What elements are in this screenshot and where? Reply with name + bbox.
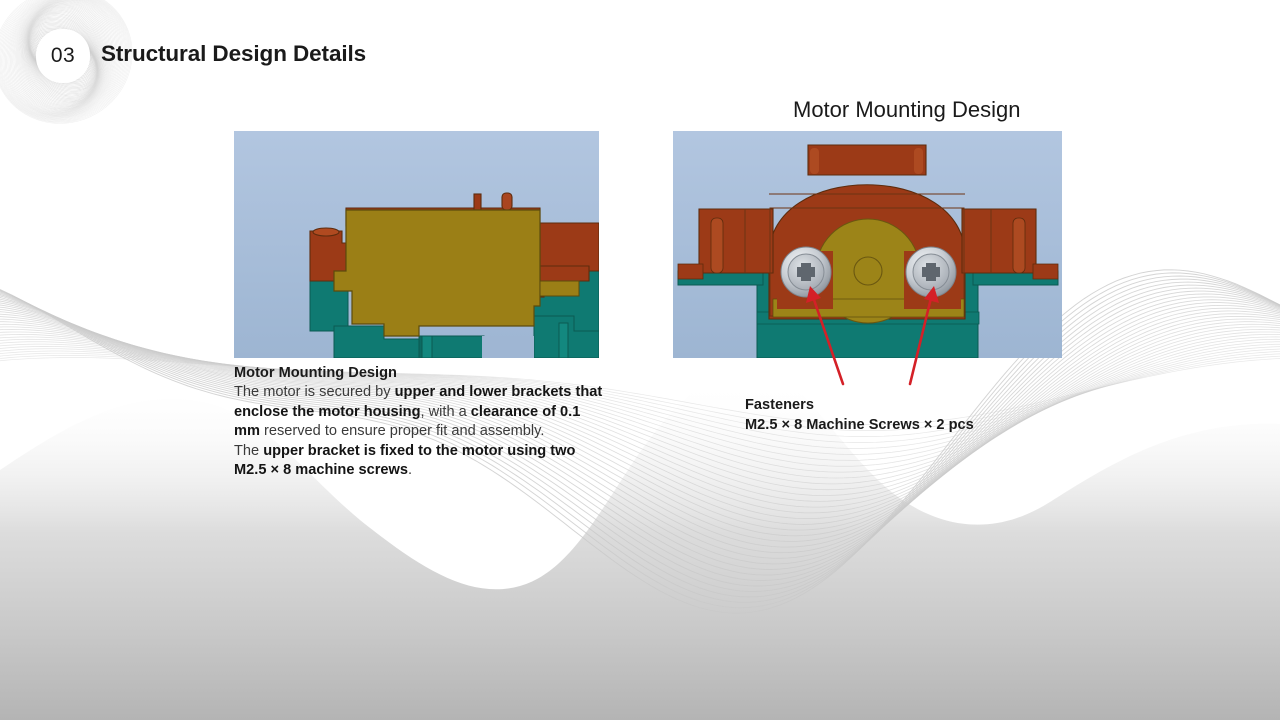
text-run: The — [234, 443, 263, 459]
caption-left-title: Motor Mounting Design — [234, 364, 606, 383]
caption-right: Fasteners M2.5 × 8 Machine Screws × 2 pc… — [745, 395, 1065, 435]
text-run: , with a — [421, 404, 471, 420]
screw-right — [906, 247, 956, 297]
caption-right-line-2: M2.5 × 8 Machine Screws × 2 pcs — [745, 415, 1065, 435]
right-figure-heading: Motor Mounting Design — [793, 97, 1020, 123]
section-number: 03 — [51, 44, 75, 68]
text-run: . — [408, 462, 412, 478]
caption-right-line-1: Fasteners — [745, 395, 1065, 415]
slide-canvas: 03 Structural Design Details — [0, 0, 1280, 720]
section-number-badge: 03 — [36, 29, 90, 83]
caption-left: Motor Mounting Design The motor is secur… — [234, 364, 606, 480]
text-run: reserved to ensure proper fit and assemb… — [260, 423, 544, 439]
caption-left-paragraph-1: The motor is secured by upper and lower … — [234, 383, 606, 441]
figure-motor-cross-section — [234, 131, 599, 358]
text-run-bold: upper bracket is fixed to the motor usin… — [234, 443, 575, 478]
caption-left-paragraph-2: The upper bracket is fixed to the motor … — [234, 442, 606, 481]
slide-header: 03 Structural Design Details — [0, 0, 600, 110]
text-run: The motor is secured by — [234, 384, 395, 400]
figure-motor-front-view — [673, 131, 1062, 358]
screw-left — [781, 247, 831, 297]
page-title: Structural Design Details — [101, 41, 366, 67]
